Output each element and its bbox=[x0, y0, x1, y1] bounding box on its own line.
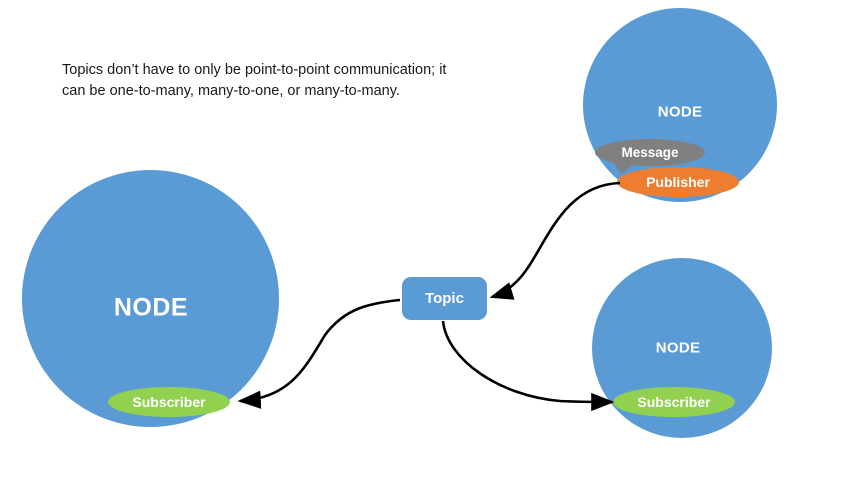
node-label-bottom-right: NODE bbox=[656, 340, 701, 357]
message-bubble: Message bbox=[595, 139, 705, 166]
subscriber-pill-left: Subscriber bbox=[108, 387, 230, 417]
caption-text: Topics don’t have to only be point-to-po… bbox=[62, 60, 482, 102]
arrow-publisher-to-topic bbox=[492, 183, 620, 297]
topic-box: Topic bbox=[402, 277, 487, 320]
subscriber-pill-bottom-right: Subscriber bbox=[613, 387, 735, 417]
diagram-canvas: Topics don’t have to only be point-to-po… bbox=[0, 0, 854, 480]
node-label-top-right: NODE bbox=[658, 104, 703, 121]
node-label-left: NODE bbox=[114, 294, 188, 323]
publisher-pill: Publisher bbox=[617, 167, 739, 197]
arrow-topic-to-bottom-subscriber bbox=[443, 321, 612, 402]
